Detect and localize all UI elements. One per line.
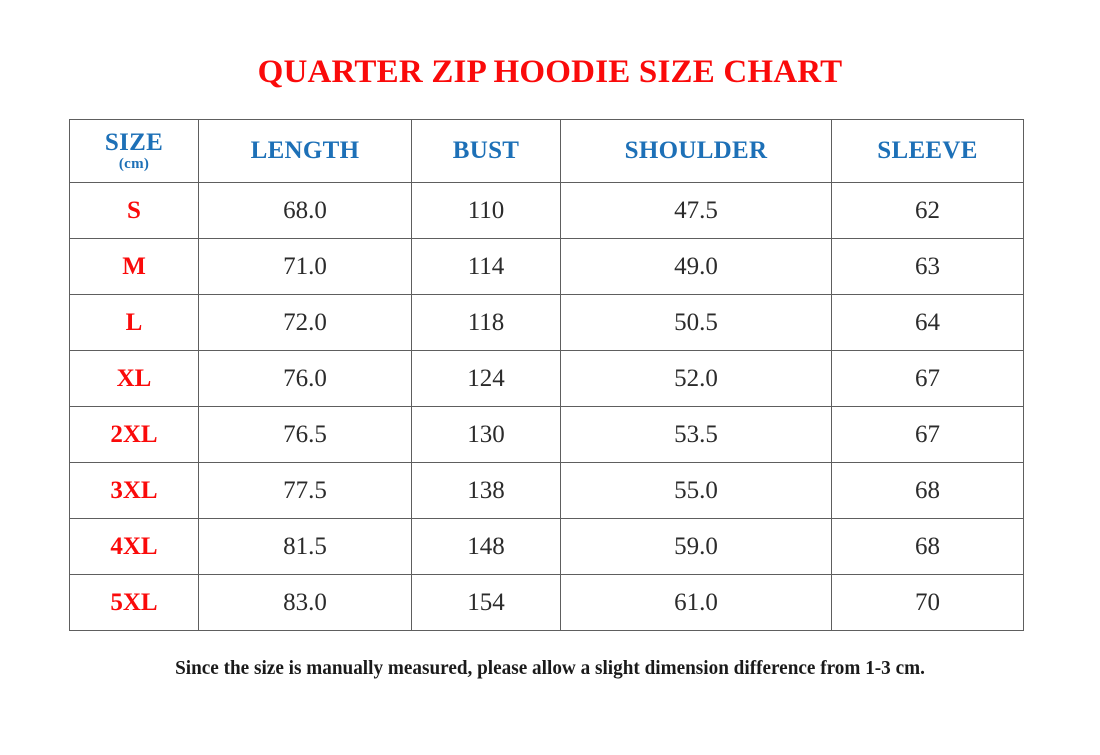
cell-length: 68.0: [199, 183, 412, 239]
cell-sleeve: 63: [832, 239, 1024, 295]
cell-sleeve: 62: [832, 183, 1024, 239]
table-row: XL 76.0 124 52.0 67: [70, 351, 1024, 407]
table-row: 4XL 81.5 148 59.0 68: [70, 519, 1024, 575]
column-header-bust: BUST: [412, 120, 561, 183]
cell-length: 81.5: [199, 519, 412, 575]
cell-length: 76.0: [199, 351, 412, 407]
cell-size: 3XL: [70, 463, 199, 519]
cell-length: 72.0: [199, 295, 412, 351]
cell-shoulder: 55.0: [561, 463, 832, 519]
column-header-size-label: SIZE: [105, 130, 163, 156]
cell-size: S: [70, 183, 199, 239]
cell-length: 76.5: [199, 407, 412, 463]
cell-shoulder: 50.5: [561, 295, 832, 351]
cell-length: 71.0: [199, 239, 412, 295]
cell-bust: 124: [412, 351, 561, 407]
measurement-disclaimer: Since the size is manually measured, ple…: [22, 655, 1078, 681]
table-row: L 72.0 118 50.5 64: [70, 295, 1024, 351]
cell-bust: 148: [412, 519, 561, 575]
cell-bust: 154: [412, 575, 561, 631]
cell-shoulder: 59.0: [561, 519, 832, 575]
table-row: 3XL 77.5 138 55.0 68: [70, 463, 1024, 519]
table-row: S 68.0 110 47.5 62: [70, 183, 1024, 239]
cell-shoulder: 47.5: [561, 183, 832, 239]
cell-size: M: [70, 239, 199, 295]
table-header: SIZE (cm) LENGTH BUST SHOULDER SLEEVE: [70, 120, 1024, 183]
cell-size: XL: [70, 351, 199, 407]
cell-size: L: [70, 295, 199, 351]
cell-shoulder: 61.0: [561, 575, 832, 631]
column-header-size: SIZE (cm): [70, 120, 199, 183]
cell-sleeve: 68: [832, 463, 1024, 519]
cell-bust: 118: [412, 295, 561, 351]
cell-size: 5XL: [70, 575, 199, 631]
cell-shoulder: 49.0: [561, 239, 832, 295]
table-row: M 71.0 114 49.0 63: [70, 239, 1024, 295]
cell-size: 4XL: [70, 519, 199, 575]
cell-size: 2XL: [70, 407, 199, 463]
cell-sleeve: 67: [832, 407, 1024, 463]
cell-length: 77.5: [199, 463, 412, 519]
column-header-shoulder: SHOULDER: [561, 120, 832, 183]
cell-bust: 114: [412, 239, 561, 295]
cell-shoulder: 52.0: [561, 351, 832, 407]
table-body: S 68.0 110 47.5 62 M 71.0 114 49.0 63 L …: [70, 183, 1024, 631]
cell-sleeve: 68: [832, 519, 1024, 575]
table-row: 2XL 76.5 130 53.5 67: [70, 407, 1024, 463]
size-chart-page: QUARTER ZIP HOODIE SIZE CHART SIZE (cm) …: [0, 0, 1100, 755]
cell-sleeve: 64: [832, 295, 1024, 351]
cell-shoulder: 53.5: [561, 407, 832, 463]
page-title: QUARTER ZIP HOODIE SIZE CHART: [0, 52, 1100, 92]
column-header-sleeve: SLEEVE: [832, 120, 1024, 183]
cell-bust: 110: [412, 183, 561, 239]
cell-sleeve: 70: [832, 575, 1024, 631]
column-header-size-unit: (cm): [119, 157, 149, 172]
column-header-length: LENGTH: [199, 120, 412, 183]
table-row: 5XL 83.0 154 61.0 70: [70, 575, 1024, 631]
cell-bust: 138: [412, 463, 561, 519]
size-chart-table: SIZE (cm) LENGTH BUST SHOULDER SLEEVE S …: [69, 119, 1024, 631]
cell-sleeve: 67: [832, 351, 1024, 407]
cell-bust: 130: [412, 407, 561, 463]
cell-length: 83.0: [199, 575, 412, 631]
header-row: SIZE (cm) LENGTH BUST SHOULDER SLEEVE: [70, 120, 1024, 183]
